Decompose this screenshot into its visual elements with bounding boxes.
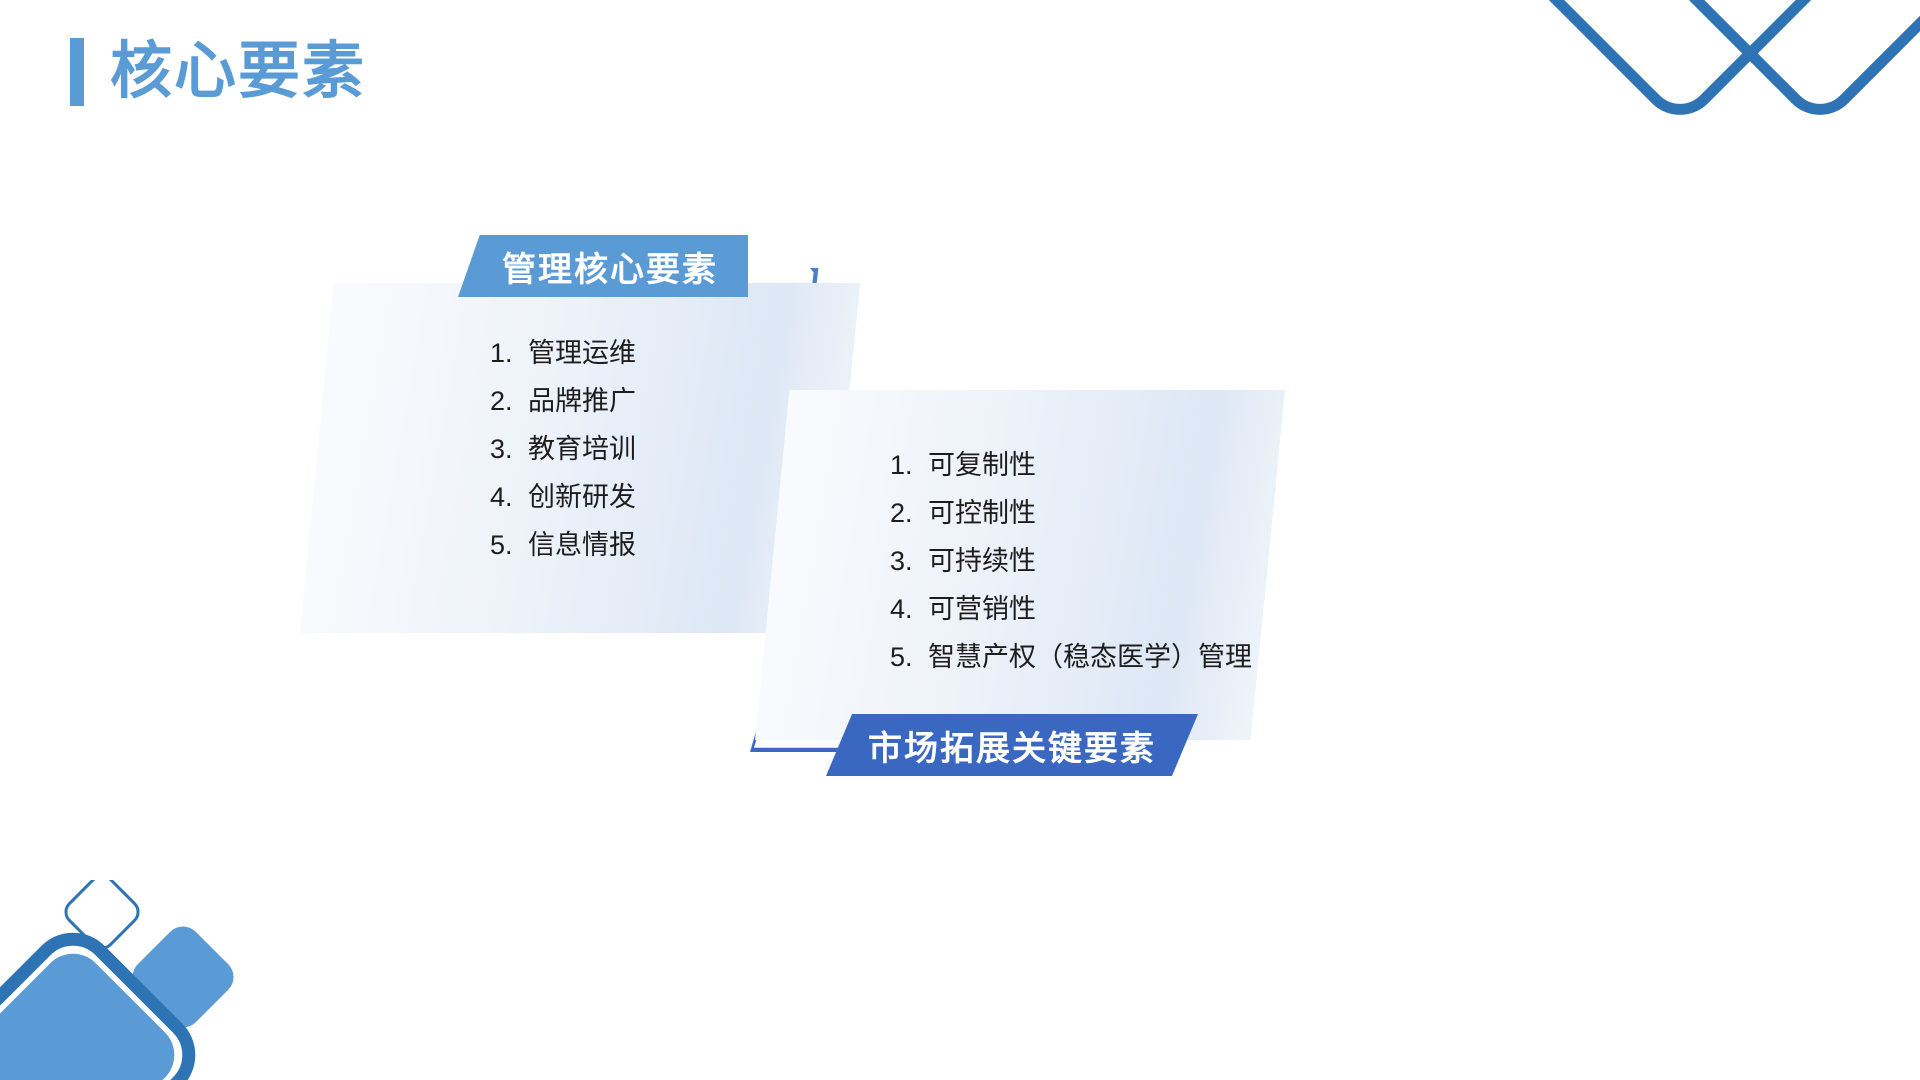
list-item: 2. 可控制性 [890, 500, 1252, 527]
list-item-number: 5. [890, 644, 928, 671]
list-item: 4. 可营销性 [890, 596, 1252, 623]
card-two-list: 1. 可复制性 2. 可控制性 3. 可持续性 4. 可营销性 5. 智慧产权（… [890, 452, 1252, 692]
list-item-label: 可持续性 [928, 548, 1036, 575]
list-item-number: 1. [890, 452, 928, 479]
list-item-label: 智慧产权（稳态医学）管理 [928, 644, 1252, 671]
card-two-header-label: 市场拓展关键要素 [868, 721, 1156, 770]
list-item-label: 可营销性 [928, 596, 1036, 623]
list-item: 1. 可复制性 [890, 452, 1252, 479]
list-item-number: 2. [890, 500, 928, 527]
list-item-label: 可复制性 [928, 452, 1036, 479]
list-item-label: 可控制性 [928, 500, 1036, 527]
list-item: 5. 智慧产权（稳态医学）管理 [890, 644, 1252, 671]
list-item-number: 4. [890, 596, 928, 623]
slide-canvas: 核心要素 管理核心要素 1. 管理运维 2. 品牌推广 3. [0, 0, 1920, 1080]
card-market-expansion: 市场拓展关键要素 1. 可复制性 2. 可控制性 3. 可持续性 4. 可营销性… [0, 0, 1920, 1080]
list-item-number: 3. [890, 548, 928, 575]
list-item: 3. 可持续性 [890, 548, 1252, 575]
card-two-header: 市场拓展关键要素 [826, 714, 1198, 776]
